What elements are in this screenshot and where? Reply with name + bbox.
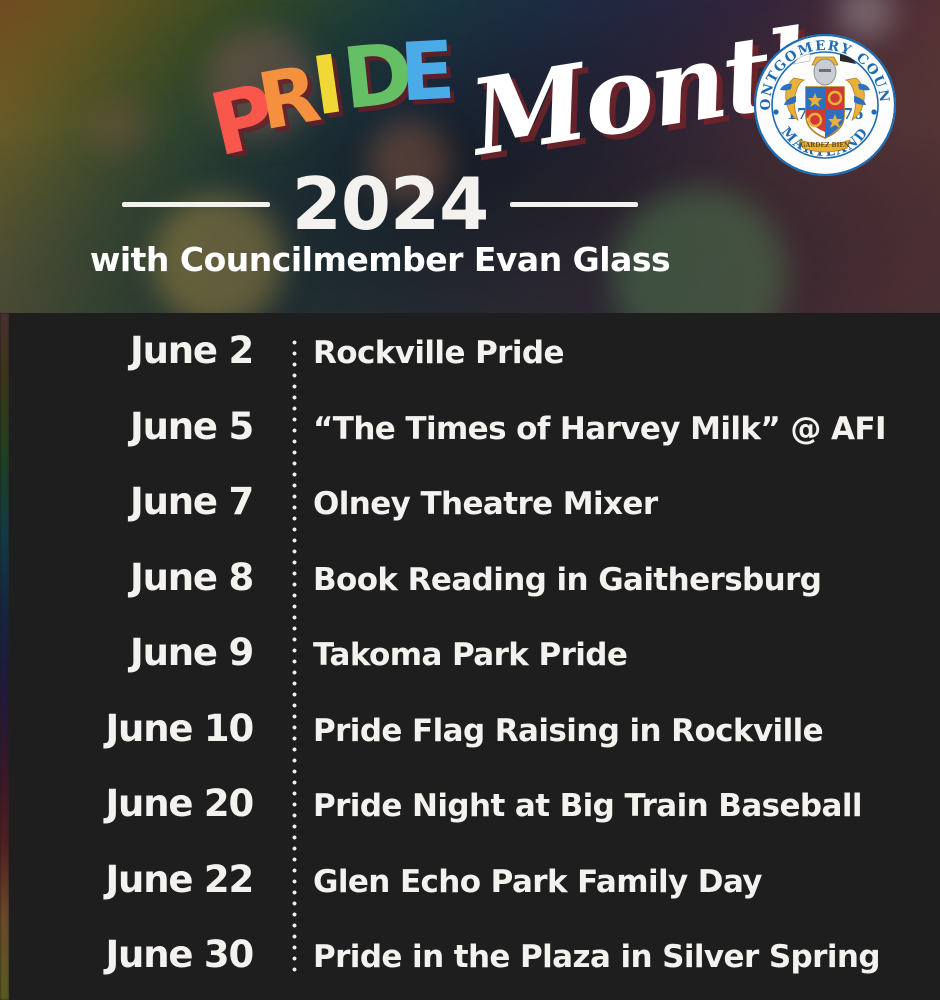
event-date: June 10 (9, 707, 275, 750)
event-title: Book Reading in Gaithersburg (275, 562, 821, 598)
event-title: Glen Echo Park Family Day (275, 864, 762, 900)
list-item[interactable]: June 5 “The Times of Harvey Milk” @ AFI (9, 405, 940, 481)
edge-color-strip (0, 313, 9, 1000)
rule-left (122, 202, 270, 207)
pride-wordmark: P R I D E (212, 36, 482, 156)
event-date: June 7 (9, 480, 275, 523)
pride-letter-e: E (398, 31, 454, 114)
event-date: June 20 (9, 782, 275, 825)
events-rows: June 2 Rockville Pride June 5 “The Times… (9, 329, 940, 1000)
event-date: June 8 (9, 556, 275, 599)
county-seal-icon: MONTGOMERY COUNTY MARYLAND 17 76 (752, 32, 898, 178)
event-title: Pride Flag Raising in Rockville (275, 713, 823, 749)
event-date: June 5 (9, 405, 275, 448)
event-date: June 2 (9, 329, 275, 372)
event-title: “The Times of Harvey Milk” @ AFI (275, 411, 886, 447)
event-title: Pride in the Plaza in Silver Spring (275, 939, 880, 975)
event-title: Olney Theatre Mixer (275, 486, 658, 522)
subtitle-text: with Councilmember Evan Glass (0, 240, 760, 279)
event-title: Rockville Pride (275, 335, 564, 371)
list-item[interactable]: June 7 Olney Theatre Mixer (9, 480, 940, 556)
events-list-panel: June 2 Rockville Pride June 5 “The Times… (9, 313, 940, 1000)
rule-right (510, 202, 638, 207)
pride-month-poster: P R I D E Month 2024 with Councilmember … (0, 0, 940, 1000)
svg-text:GARDEZ BIEN: GARDEZ BIEN (801, 142, 850, 149)
year-text: 2024 (292, 168, 488, 240)
event-date: June 30 (9, 933, 275, 976)
list-item[interactable]: June 22 Glen Echo Park Family Day (9, 858, 940, 934)
event-date: June 22 (9, 858, 275, 901)
list-item[interactable]: June 20 Pride Night at Big Train Basebal… (9, 782, 940, 858)
event-date: June 9 (9, 631, 275, 674)
list-item[interactable]: June 9 Takoma Park Pride (9, 631, 940, 707)
poster-header: P R I D E Month 2024 with Councilmember … (0, 0, 940, 313)
event-title: Pride Night at Big Train Baseball (275, 788, 862, 824)
year-row: 2024 (0, 168, 760, 240)
list-item[interactable]: June 2 Rockville Pride (9, 329, 940, 405)
list-item[interactable]: June 8 Book Reading in Gaithersburg (9, 556, 940, 632)
event-title: Takoma Park Pride (275, 637, 627, 673)
list-item[interactable]: June 10 Pride Flag Raising in Rockville (9, 707, 940, 783)
list-item[interactable]: June 30 Pride in the Plaza in Silver Spr… (9, 933, 940, 1000)
